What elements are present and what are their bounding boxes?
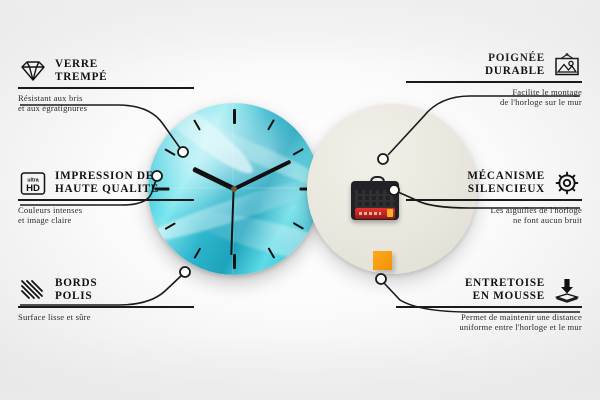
feature-entretoise-en-mousse: ENTRETOISEEN MOUSSE Permet de maintenir … bbox=[396, 277, 582, 333]
feature-description: Couleurs intenseset image claire bbox=[18, 205, 194, 226]
divider bbox=[396, 306, 582, 308]
clock-center-cap bbox=[231, 186, 237, 192]
gear-icon bbox=[552, 170, 582, 196]
clock-tick-12 bbox=[233, 109, 236, 124]
feature-title: IMPRESSION DEHAUTE QUALITÉ bbox=[55, 170, 159, 196]
divider bbox=[18, 306, 194, 308]
diamond-icon bbox=[18, 58, 48, 84]
svg-text:HD: HD bbox=[26, 183, 40, 194]
ultra-hd-icon: ultra HD bbox=[18, 170, 48, 196]
feature-description: Résistant aux briset aux égratignures bbox=[18, 93, 194, 114]
feature-header: BORDSPOLIS bbox=[18, 277, 194, 303]
feature-poignee-durable: POIGNÉEDURABLE Facilite le montagede l'h… bbox=[406, 52, 582, 108]
feature-description: Facilite le montagede l'horloge sur le m… bbox=[406, 87, 582, 108]
feature-verre-trempe: VERRETREMPÉ Résistant aux briset aux égr… bbox=[18, 58, 194, 114]
divider bbox=[18, 87, 194, 89]
polished-edges-icon bbox=[18, 277, 48, 303]
feature-title: POIGNÉEDURABLE bbox=[485, 52, 545, 78]
feature-title: VERRETREMPÉ bbox=[55, 58, 107, 84]
feature-header: POIGNÉEDURABLE bbox=[406, 52, 582, 78]
divider bbox=[406, 81, 582, 83]
divider bbox=[18, 199, 194, 201]
feature-bords-polis: BORDSPOLIS Surface lisse et sûre bbox=[18, 277, 194, 322]
feature-header: MÉCANISMESILENCIEUX bbox=[406, 170, 582, 196]
clock-mechanism bbox=[351, 176, 399, 220]
feature-description: Les aiguilles de l'horlogene font aucun … bbox=[406, 205, 582, 226]
divider bbox=[406, 199, 582, 201]
foam-spacer bbox=[373, 251, 392, 270]
infographic-stage: VERRETREMPÉ Résistant aux briset aux égr… bbox=[0, 0, 600, 400]
feature-mecanisme-silencieux: MÉCANISMESILENCIEUX bbox=[406, 170, 582, 226]
picture-hanger-icon bbox=[552, 52, 582, 78]
foam-spacer-icon bbox=[552, 277, 582, 303]
feature-description: Surface lisse et sûre bbox=[18, 312, 194, 323]
feature-header: VERRETREMPÉ bbox=[18, 58, 194, 84]
feature-title: MÉCANISMESILENCIEUX bbox=[467, 170, 545, 196]
mechanism-body bbox=[351, 181, 399, 220]
feature-header: ENTRETOISEEN MOUSSE bbox=[396, 277, 582, 303]
feature-title: ENTRETOISEEN MOUSSE bbox=[465, 277, 545, 303]
feature-title: BORDSPOLIS bbox=[55, 277, 97, 303]
feature-header: ultra HD IMPRESSION DEHAUTE QUALITÉ bbox=[18, 170, 194, 196]
battery bbox=[355, 208, 395, 219]
clock-tick-6 bbox=[233, 254, 236, 269]
feature-description: Permet de maintenir une distanceuniforme… bbox=[396, 312, 582, 333]
feature-impression-haute-qualite: ultra HD IMPRESSION DEHAUTE QUALITÉ Coul… bbox=[18, 170, 194, 226]
